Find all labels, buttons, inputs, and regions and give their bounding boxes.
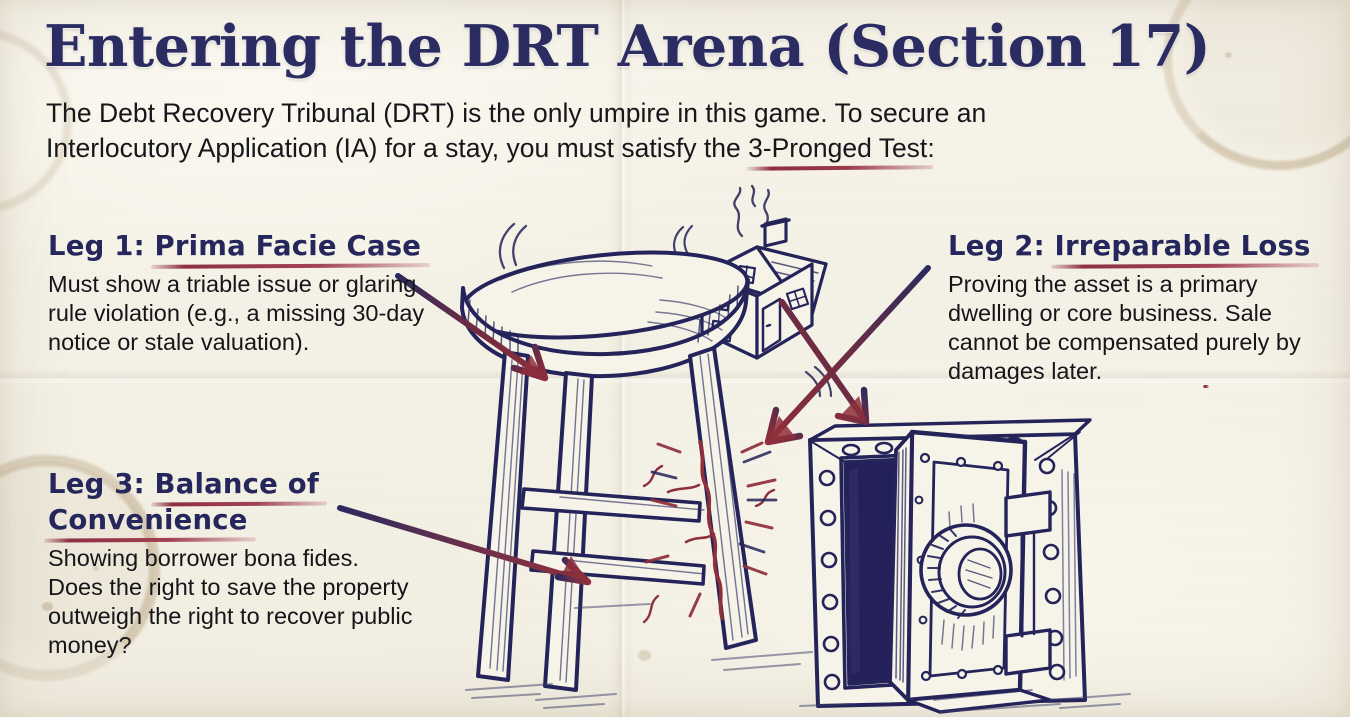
leg-3-heading: Leg 3: Balance ofConvenience [48,466,418,538]
leg-3-body: Showing borrower bona fides. Does the ri… [48,544,418,660]
leg-1-heading: Leg 1: Prima Facie Case [48,228,438,264]
intro-line-1: The Debt Recovery Tribunal (DRT) is the … [46,98,986,128]
leg-2-heading-prefix: Leg 2: [948,230,1055,262]
arrow-leg2-to-safe [782,302,866,422]
leg-1-heading-emphasis: Prima Facie Case [155,228,422,264]
leg-2-heading: Leg 2: Irreparable Loss [948,228,1323,264]
leg-3-heading-emphasis-line2: Convenience [48,502,248,538]
leg-3-block: Leg 3: Balance ofConvenience Showing bor… [48,466,418,660]
leg-3-heading-emphasis-line1: Balance of [155,466,319,502]
leg-1-block: Leg 1: Prima Facie Case Must show a tria… [48,228,438,357]
safe-illustration [800,420,1130,712]
intro-line-2-prefix: Interlocutory Application (IA) for a sta… [46,133,748,163]
leg-2-heading-emphasis: Irreparable Loss [1055,228,1311,264]
page-title: Entering the DRT Arena (Section 17) [44,13,1210,80]
leg-2-block: Leg 2: Irreparable Loss Proving the asse… [948,228,1323,386]
leg-1-body: Must show a triable issue or glaring rul… [48,270,438,357]
three-pronged-test-emphasis: 3-Pronged Test [748,133,927,163]
leg-1-heading-prefix: Leg 1: [48,230,155,262]
infographic-page: Entering the DRT Arena (Section 17) The … [0,0,1350,717]
leg-2-body: Proving the asset is a primary dwelling … [948,270,1323,386]
intro-paragraph: The Debt Recovery Tribunal (DRT) is the … [46,96,1206,166]
intro-line-2-suffix: : [927,133,934,163]
page-title-text: Entering the DRT Arena (Section 17) [44,13,1210,80]
leg-3-heading-prefix: Leg 3: [48,468,155,500]
